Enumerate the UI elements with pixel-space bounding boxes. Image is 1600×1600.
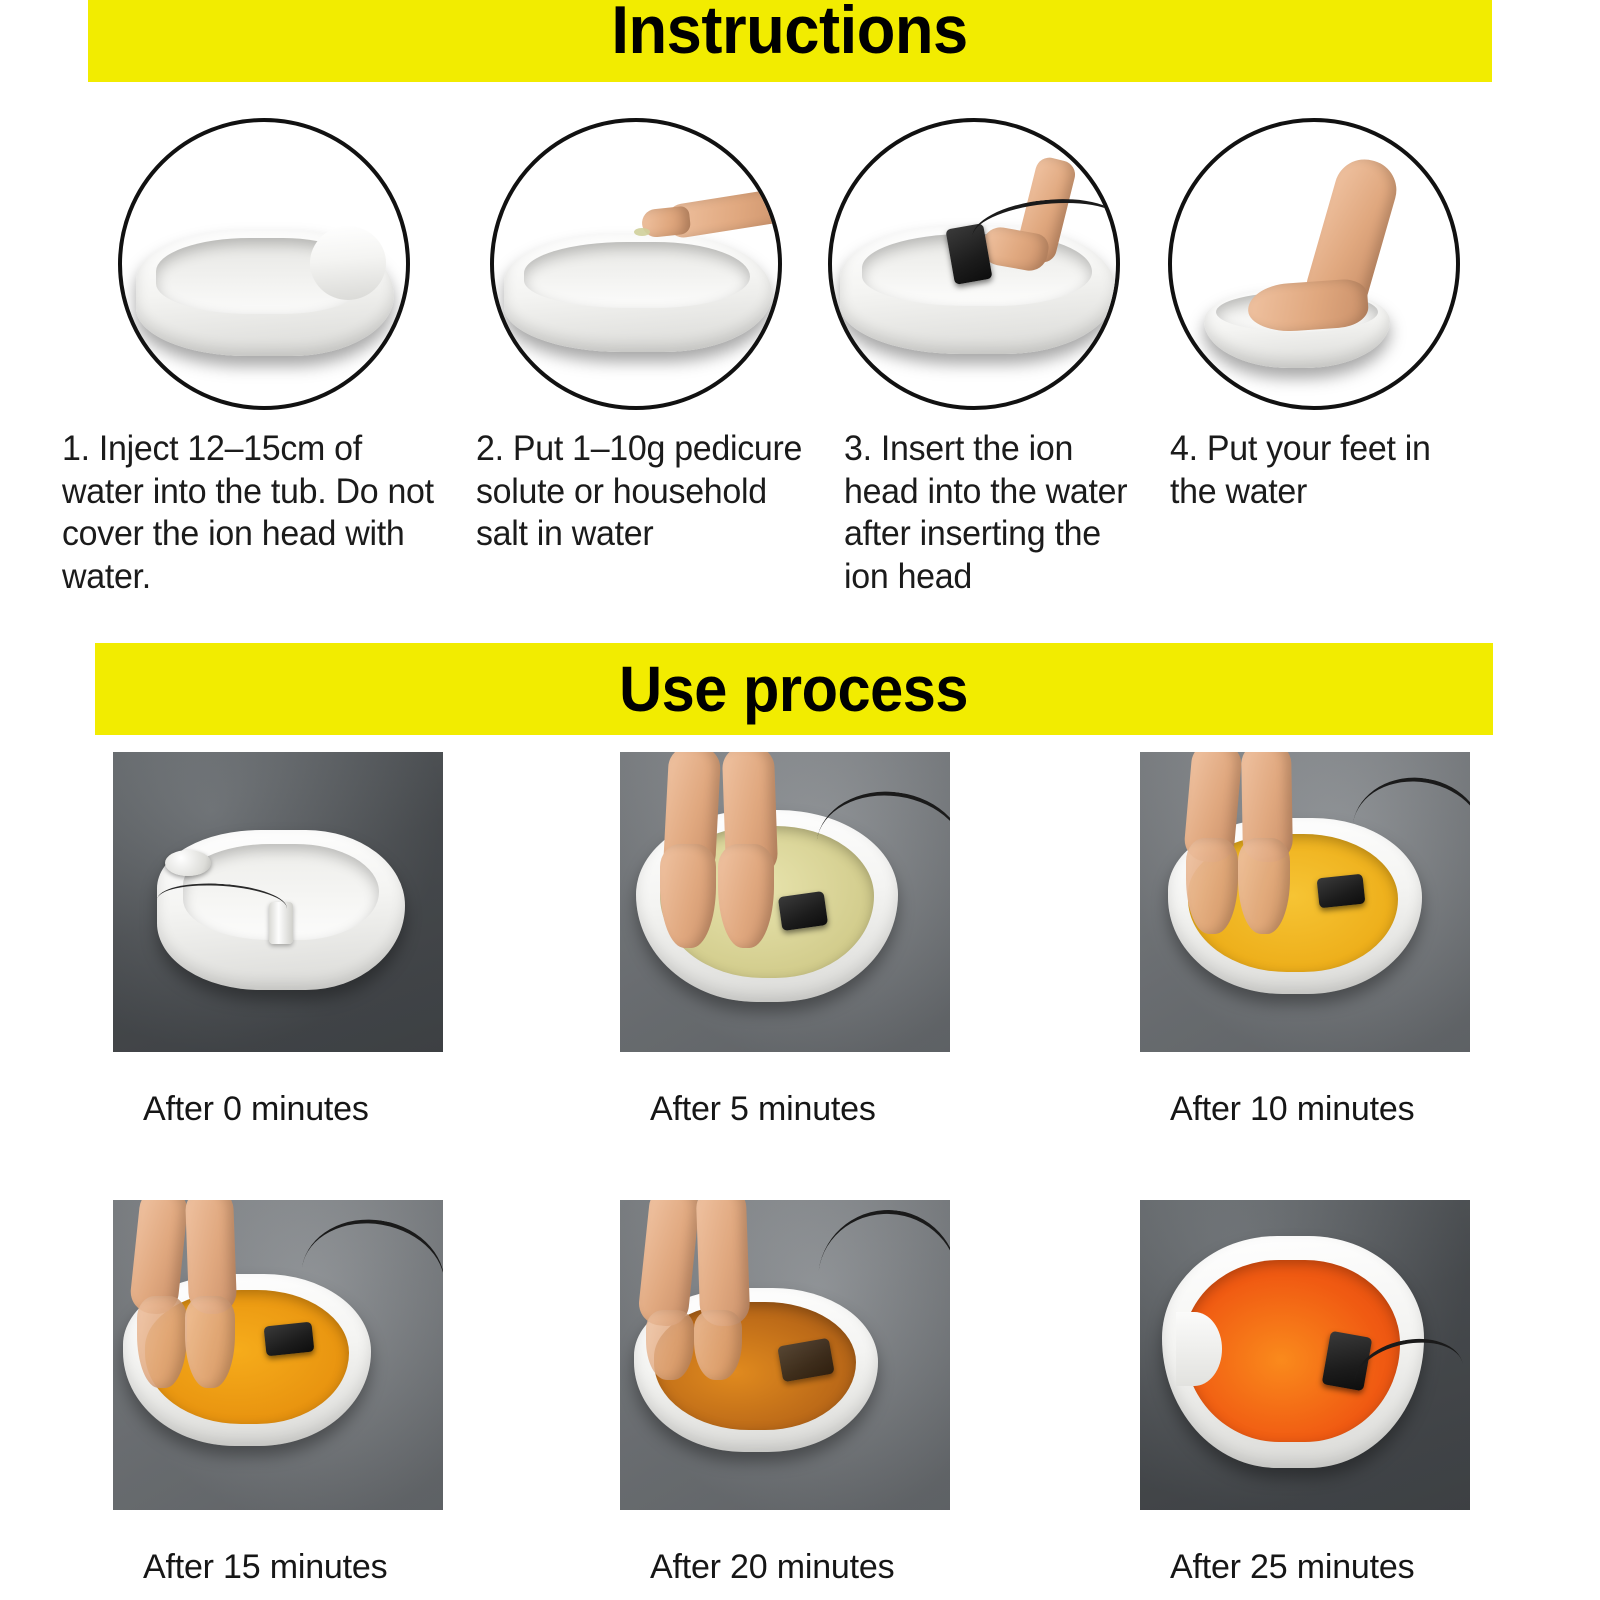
step-1-caption: 1. Inject 12–15cm of water into the tub.… [62, 428, 450, 599]
process-item-10-minutes: After 10 minutes [1140, 752, 1480, 1152]
process-photo-10-minutes [1140, 752, 1470, 1052]
process-photo-25-minutes [1140, 1200, 1470, 1510]
ion-head-icon [1317, 874, 1366, 909]
process-photo-5-minutes [620, 752, 950, 1052]
process-caption-15-minutes: After 15 minutes [143, 1548, 387, 1587]
product-instruction-infographic: Instructions [0, 0, 1600, 1600]
control-disc-icon [165, 850, 211, 876]
step-3-caption: 3. Insert the ion head into the water af… [844, 428, 1135, 599]
process-item-20-minutes: After 20 minutes [620, 1200, 960, 1600]
process-caption-10-minutes: After 10 minutes [1170, 1090, 1414, 1129]
instructions-banner-title: Instructions [612, 0, 968, 64]
process-item-0-minutes: After 0 minutes [113, 752, 453, 1152]
salt-pinch-icon [634, 228, 650, 236]
step-2-caption: 2. Put 1–10g pedicure solute or househol… [476, 428, 825, 556]
step-3-illustration-circle [828, 118, 1120, 410]
process-caption-20-minutes: After 20 minutes [650, 1548, 894, 1587]
use-process-banner-title: Use process [620, 657, 969, 721]
instruction-illustrations-row [0, 118, 1600, 418]
step-2-illustration-circle [490, 118, 782, 410]
process-photo-20-minutes [620, 1200, 950, 1510]
process-item-5-minutes: After 5 minutes [620, 752, 960, 1152]
step-1-illustration-circle [118, 118, 410, 410]
empty-tub-illustration [122, 122, 406, 406]
instruction-captions-row: 1. Inject 12–15cm of water into the tub.… [0, 428, 1600, 628]
hand-adding-salt-illustration [494, 122, 778, 406]
foot-in-tub-illustration [1172, 122, 1456, 406]
step-4-caption: 4. Put your feet in the water [1170, 428, 1461, 513]
process-item-25-minutes: After 25 minutes [1140, 1200, 1480, 1600]
process-photo-0-minutes [113, 752, 443, 1052]
process-caption-25-minutes: After 25 minutes [1170, 1548, 1414, 1587]
process-caption-0-minutes: After 0 minutes [143, 1090, 369, 1129]
use-process-photo-grid: After 0 minutes After 5 minutes [0, 752, 1600, 1592]
instructions-section-banner: Instructions [88, 0, 1492, 82]
process-photo-15-minutes [113, 1200, 443, 1510]
step-4-illustration-circle [1168, 118, 1460, 410]
ion-head-icon [778, 891, 828, 931]
use-process-section-banner: Use process [95, 643, 1493, 735]
ion-head-icon [264, 1322, 315, 1357]
process-caption-5-minutes: After 5 minutes [650, 1090, 876, 1129]
hand-inserting-ion-head-illustration [832, 122, 1116, 406]
process-item-15-minutes: After 15 minutes [113, 1200, 453, 1600]
